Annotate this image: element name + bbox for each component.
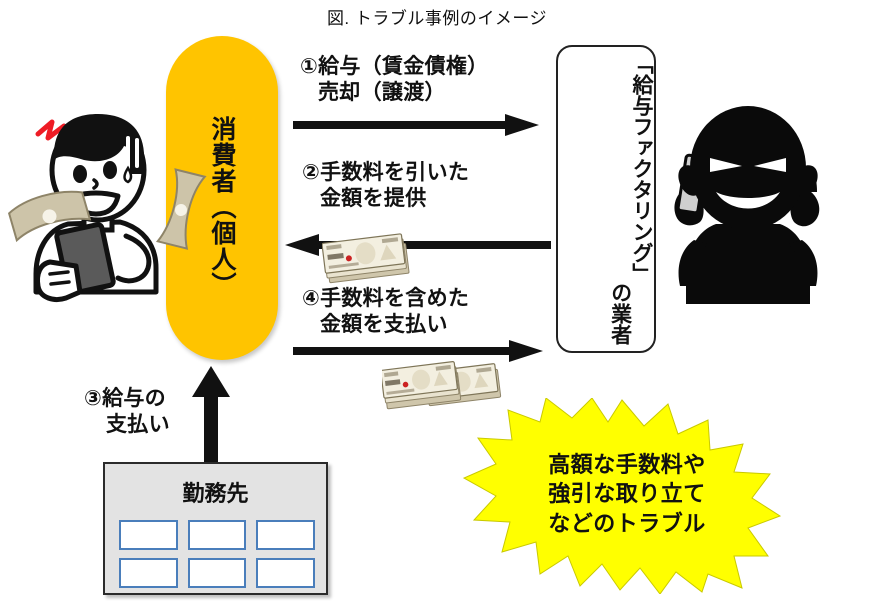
node-provider — [556, 45, 656, 353]
callout-starburst — [462, 398, 782, 594]
money-icon-flow2 — [322, 232, 414, 284]
workplace-window — [119, 558, 178, 588]
flow-1-label-line2: 売却（譲渡） — [300, 80, 446, 106]
node-workplace: 勤務先 — [103, 462, 328, 595]
figure-canvas: 図. トラブル事例のイメージ 消費者（個人） 「給与ファクタリング」 の業者 ①… — [0, 0, 874, 601]
workplace-window — [188, 558, 247, 588]
black-silhouette-villain-with-phone-icon — [660, 100, 836, 316]
workplace-window — [188, 520, 247, 550]
yen-banknote-icon-left — [8, 188, 94, 248]
workplace-window — [256, 558, 315, 588]
flow-4-label-line2: 金額を支払い — [302, 312, 448, 338]
figure-title: 図. トラブル事例のイメージ — [0, 4, 874, 29]
flow-1-label-line1: ①給与（賃金債権） — [300, 55, 488, 78]
flow-1-arrow — [293, 114, 539, 136]
flow-2-label-line1: ②手数料を引いた — [302, 161, 469, 184]
workplace-window — [119, 520, 178, 550]
flow-2-label-line2: 金額を提供 — [302, 186, 427, 212]
flow-3-label-line2: 支払い — [84, 412, 170, 438]
flow-3-arrow — [192, 366, 230, 462]
flow-3-label: ③給与の 支払い — [84, 386, 170, 437]
node-workplace-label: 勤務先 — [105, 476, 326, 508]
workplace-window — [256, 520, 315, 550]
flow-3-label-line1: ③給与の — [84, 387, 166, 410]
workplace-windows — [119, 520, 315, 588]
flow-2-label: ②手数料を引いた 金額を提供 — [302, 160, 469, 211]
flow-4-label: ④手数料を含めた 金額を支払い — [302, 286, 469, 337]
flow-4-label-line1: ④手数料を含めた — [302, 287, 469, 310]
flow-1-label: ①給与（賃金債権） 売却（譲渡） — [300, 54, 488, 105]
yen-banknote-icon-right — [152, 168, 210, 252]
